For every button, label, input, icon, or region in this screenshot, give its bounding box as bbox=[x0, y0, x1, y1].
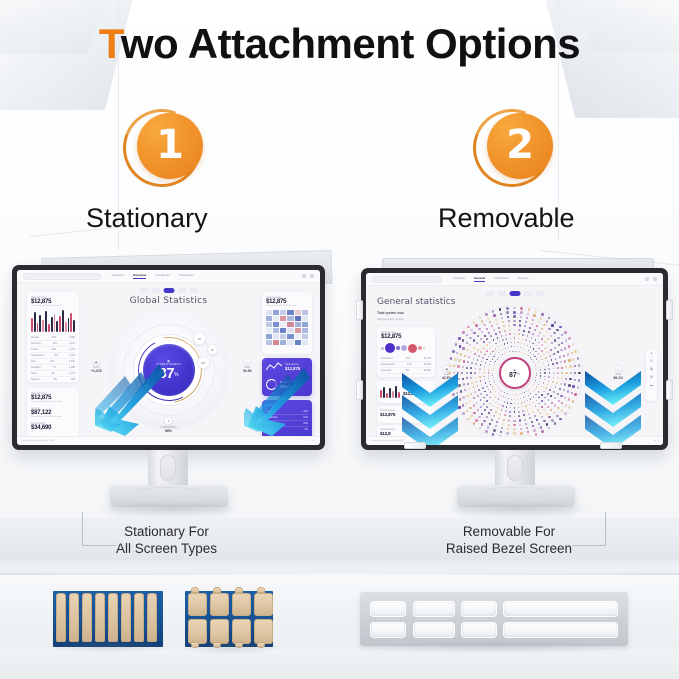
burst-dot bbox=[494, 382, 495, 383]
burst-dot bbox=[514, 333, 516, 335]
burst-dot bbox=[540, 375, 541, 376]
segment-1y[interactable] bbox=[535, 291, 544, 296]
burst-dot bbox=[457, 365, 459, 367]
burst-dot bbox=[513, 420, 515, 422]
burst-dot bbox=[499, 308, 502, 311]
burst-dot bbox=[574, 350, 577, 353]
burst-dot bbox=[509, 329, 511, 331]
burst-dot bbox=[574, 379, 577, 382]
burst-dot bbox=[501, 427, 503, 429]
burst-dot bbox=[550, 349, 552, 351]
burst-dot bbox=[493, 389, 494, 390]
row-pct: 9% bbox=[406, 369, 409, 372]
card-right-total-earning: Total earning $12,875 Compared to $10,87… bbox=[262, 292, 312, 354]
sheet-slot bbox=[413, 622, 455, 638]
clip-tab-right-bottom[interactable] bbox=[666, 380, 673, 400]
burst-dot bbox=[565, 404, 568, 407]
toolbar-icon-up[interactable]: ▲ bbox=[650, 351, 653, 355]
footer-right: v4.2 bbox=[311, 440, 315, 442]
adhesive-tab bbox=[232, 593, 251, 616]
clip-tab-bottom-left[interactable] bbox=[404, 442, 426, 449]
burst-dot bbox=[476, 342, 478, 344]
burst-dot bbox=[560, 383, 562, 385]
adhesive-tab bbox=[69, 593, 79, 642]
dashboard-title: General statistics bbox=[377, 297, 455, 307]
burst-dot bbox=[525, 423, 527, 425]
burst-dot bbox=[541, 400, 543, 402]
dashboard-topbar: Analytics General Dashboard Reports bbox=[366, 273, 663, 286]
burst-dot bbox=[560, 395, 562, 397]
burst-dot bbox=[492, 373, 493, 374]
avatar[interactable] bbox=[310, 274, 314, 278]
adhesive-tab bbox=[254, 593, 273, 616]
burst-dot bbox=[526, 317, 528, 319]
bracket-left bbox=[82, 512, 116, 546]
burst-dot bbox=[524, 353, 525, 354]
adhesive-strip-grid-shadow bbox=[178, 642, 282, 655]
gauge-unit: % bbox=[174, 372, 178, 378]
burst-dot bbox=[473, 347, 475, 349]
burst-dot bbox=[511, 399, 512, 400]
burst-dot bbox=[475, 377, 477, 379]
sheet-slot bbox=[503, 622, 618, 638]
burst-dot bbox=[522, 406, 524, 408]
nav-overview[interactable]: Overview bbox=[133, 273, 146, 279]
card-subtext: Compared to $10,875 last week bbox=[266, 305, 308, 307]
burst-dot bbox=[548, 345, 550, 347]
burst-dot bbox=[553, 377, 555, 379]
row-value: $3,640 bbox=[424, 363, 431, 366]
burst-dot bbox=[487, 426, 490, 429]
dashboard-topnav: Analytics General Dashboard Reports bbox=[453, 276, 528, 282]
row-value: $4,210 bbox=[424, 357, 431, 360]
mini-bar-chart bbox=[380, 386, 400, 398]
burst-dot bbox=[569, 365, 571, 367]
burst-dot bbox=[480, 393, 482, 395]
burst-dot bbox=[469, 337, 471, 339]
burst-dot bbox=[524, 343, 525, 344]
burst-dot bbox=[535, 339, 537, 341]
burst-dot bbox=[460, 353, 462, 355]
monitor-left-screen: Analytics Overview Dashboard Workspace bbox=[17, 270, 320, 445]
burst-dot bbox=[571, 352, 574, 355]
burst-dot bbox=[568, 398, 571, 401]
topbar-actions bbox=[645, 277, 657, 281]
burst-dot bbox=[529, 327, 531, 329]
sheet-slot bbox=[503, 601, 618, 617]
burst-dot bbox=[538, 423, 540, 425]
burst-dot bbox=[506, 307, 509, 310]
burst-dot bbox=[480, 364, 482, 366]
burst-dot bbox=[536, 419, 538, 421]
burst-dot bbox=[505, 334, 507, 336]
monitor-left-shadow bbox=[96, 500, 246, 518]
clip-tab-right-top[interactable] bbox=[666, 300, 673, 320]
footer-right: v4.2 bbox=[654, 440, 658, 442]
clip-tab-left-top[interactable] bbox=[356, 300, 363, 320]
row-value: 2,410 bbox=[69, 342, 75, 345]
row-name: Norway bbox=[31, 336, 39, 339]
burst-dot bbox=[488, 389, 489, 390]
burst-dot bbox=[518, 415, 520, 417]
burst-dot bbox=[468, 388, 470, 390]
burst-dot bbox=[523, 330, 525, 332]
install-arrow-left bbox=[398, 373, 462, 445]
burst-dot bbox=[564, 396, 566, 398]
chip-text: ⚙ bbox=[211, 348, 214, 352]
burst-dot bbox=[536, 400, 538, 402]
burst-dot bbox=[533, 429, 536, 432]
burst-dot bbox=[462, 339, 465, 342]
row-pct: 6% bbox=[51, 372, 54, 375]
segment-1w[interactable] bbox=[151, 288, 160, 293]
burst-dot bbox=[490, 384, 491, 385]
burst-dot bbox=[493, 429, 496, 432]
burst-dot bbox=[502, 405, 504, 407]
burst-dot bbox=[541, 430, 544, 433]
bracket-right bbox=[572, 512, 606, 546]
burst-dot bbox=[492, 400, 494, 402]
burst-dot bbox=[518, 411, 520, 413]
nav-dashboard[interactable]: Dashboard bbox=[494, 276, 509, 282]
burst-dot bbox=[470, 367, 472, 369]
burst-dot bbox=[466, 410, 469, 413]
burst-dot bbox=[489, 423, 491, 425]
right-toolbar: ▲ ⚙ ▦ ▤ ▬ bbox=[646, 349, 657, 401]
burst-dot bbox=[473, 321, 476, 324]
row-name: Italy bbox=[31, 360, 35, 363]
burst-dot bbox=[551, 324, 554, 327]
option-label-1: Stationary bbox=[86, 203, 208, 234]
segment-1y[interactable] bbox=[189, 288, 198, 293]
avatar[interactable] bbox=[653, 277, 657, 281]
burst-dot bbox=[497, 337, 499, 339]
chip-badge-1[interactable]: 87 bbox=[193, 332, 206, 345]
burst-dot bbox=[492, 351, 493, 352]
row-pct: 9% bbox=[54, 354, 57, 357]
target-icon: ☀ bbox=[164, 416, 173, 425]
burst-dot bbox=[508, 347, 509, 348]
burst-dot bbox=[522, 334, 524, 336]
segment-1m[interactable] bbox=[509, 291, 520, 296]
row-name: Production bbox=[381, 357, 392, 360]
chip-badge-3[interactable]: 54° bbox=[197, 356, 210, 369]
burst-dot bbox=[541, 328, 543, 330]
burst-dot bbox=[561, 372, 563, 374]
burst-dot bbox=[571, 392, 574, 395]
burst-dot bbox=[485, 362, 486, 363]
burst-dot bbox=[476, 402, 478, 404]
burst-dot bbox=[546, 320, 549, 323]
segment-3m[interactable] bbox=[177, 288, 186, 293]
burst-dot bbox=[490, 391, 491, 392]
burst-dot bbox=[574, 393, 577, 396]
burst-dot bbox=[565, 339, 568, 342]
burst-dot bbox=[554, 404, 556, 406]
burst-dot bbox=[475, 363, 477, 365]
product-infographic: Two Attachment Options 1 Stationary 2 Re… bbox=[0, 0, 679, 679]
burst-dot bbox=[549, 355, 551, 357]
burst-dot bbox=[561, 342, 563, 344]
row-name: Scotland bbox=[31, 366, 40, 369]
card-value: $12,875 bbox=[381, 334, 431, 340]
burst-dot bbox=[535, 405, 537, 407]
burst-dot bbox=[544, 366, 545, 367]
burst-dot bbox=[450, 357, 453, 360]
burst-dot bbox=[483, 372, 484, 373]
adhesive-strip-tall bbox=[53, 591, 163, 647]
burst-dot bbox=[578, 364, 581, 367]
toolbar-icon-rows[interactable]: ▤ bbox=[650, 375, 653, 379]
row-name: Development bbox=[381, 363, 395, 366]
burst-dot bbox=[507, 428, 509, 430]
burst-dot bbox=[469, 400, 471, 402]
burst-dot bbox=[484, 335, 486, 337]
burst-dot bbox=[466, 395, 468, 397]
burst-dot bbox=[498, 357, 499, 358]
burst-dot bbox=[504, 353, 505, 354]
badge-circle-2: 2 bbox=[487, 113, 553, 179]
burst-dot bbox=[529, 404, 531, 406]
burst-dot bbox=[483, 420, 485, 422]
row-pct: 5% bbox=[54, 378, 57, 381]
burst-dot bbox=[518, 333, 520, 335]
burst-dot bbox=[490, 353, 491, 354]
burst-dot bbox=[540, 317, 543, 320]
burst-dot bbox=[514, 337, 516, 339]
toolbar-icon-bar[interactable]: ▬ bbox=[650, 383, 654, 387]
bell-icon[interactable] bbox=[302, 274, 306, 278]
segmented-control bbox=[485, 291, 544, 296]
segment-1d[interactable] bbox=[139, 288, 148, 293]
burst-dot bbox=[536, 358, 537, 359]
burst-dot bbox=[480, 380, 482, 382]
bell-icon[interactable] bbox=[645, 277, 649, 281]
burst-dot bbox=[480, 345, 482, 347]
burst-dot bbox=[470, 393, 472, 395]
burst-dot bbox=[473, 422, 476, 425]
burst-dot bbox=[518, 329, 520, 331]
burst-dot bbox=[525, 349, 526, 350]
burst-dot bbox=[488, 332, 490, 334]
nav-dashboard[interactable]: Dashboard bbox=[155, 273, 170, 279]
burst-dot bbox=[564, 360, 566, 362]
burst-dot bbox=[520, 307, 523, 310]
burst-dot bbox=[478, 389, 480, 391]
burst-dot bbox=[483, 403, 485, 405]
burst-dot bbox=[495, 333, 497, 335]
burst-dot bbox=[551, 385, 553, 387]
burst-dot bbox=[528, 395, 529, 396]
search-input[interactable] bbox=[372, 276, 442, 283]
burst-dot bbox=[570, 372, 572, 374]
burst-dot bbox=[501, 335, 503, 337]
row-value: 968 bbox=[71, 378, 75, 381]
row-pct: 11% bbox=[53, 342, 58, 345]
adhesive-tab bbox=[95, 593, 105, 642]
burst-dot bbox=[524, 419, 526, 421]
burst-dot bbox=[533, 348, 534, 349]
burst-dot bbox=[538, 391, 539, 392]
income-sub: Compared to $10,875 last week bbox=[31, 416, 75, 418]
burst-dot bbox=[493, 339, 495, 341]
burst-dot bbox=[530, 398, 531, 399]
burst-dot bbox=[543, 382, 544, 383]
burst-dot bbox=[521, 352, 522, 353]
burst-dot bbox=[504, 343, 505, 344]
nav-analytics[interactable]: Analytics bbox=[112, 273, 124, 279]
sheet-slot bbox=[461, 622, 497, 638]
burst-dot bbox=[527, 409, 529, 411]
burst-dot bbox=[506, 406, 508, 408]
burst-dot bbox=[478, 328, 480, 330]
caption-right: Removable For Raised Bezel Screen bbox=[446, 524, 572, 558]
burst-dot bbox=[548, 364, 550, 366]
card-subtext: Compared to $10,875 last week bbox=[31, 305, 75, 307]
burst-dot bbox=[493, 380, 494, 381]
burst-dot bbox=[458, 337, 461, 340]
burst-dot bbox=[535, 310, 538, 313]
monitor-right-shadow bbox=[443, 500, 593, 518]
burst-reading: 87% bbox=[509, 372, 520, 379]
badge-circle-1: 1 bbox=[137, 113, 203, 179]
burst-dot bbox=[494, 363, 495, 364]
burst-dot bbox=[535, 368, 536, 369]
row-pct: 10% bbox=[51, 348, 56, 351]
burst-dot bbox=[492, 310, 495, 313]
topbar-actions bbox=[302, 274, 314, 278]
burst-dot bbox=[540, 372, 541, 373]
burst-dot bbox=[528, 308, 531, 311]
burst-dot bbox=[537, 409, 539, 411]
burst-dot bbox=[551, 359, 553, 361]
badge-number-1: 1 bbox=[156, 125, 184, 165]
burst-dot bbox=[526, 427, 528, 429]
burst-dot bbox=[470, 377, 472, 379]
burst-dot bbox=[522, 410, 524, 412]
adhesive-strip-grid bbox=[185, 591, 273, 647]
burst-dot bbox=[495, 319, 497, 321]
segment-3m[interactable] bbox=[523, 291, 532, 296]
burst-dot bbox=[455, 343, 458, 346]
burst-dot bbox=[551, 419, 554, 422]
burst-dot bbox=[495, 396, 496, 397]
row-value: 2,980 bbox=[69, 336, 75, 339]
burst-dot bbox=[462, 412, 465, 415]
nav-analytics[interactable]: Analytics bbox=[453, 276, 465, 282]
burst-dot bbox=[533, 396, 534, 397]
burst-dot bbox=[485, 313, 488, 316]
burst-dot bbox=[514, 395, 515, 396]
burst-dot bbox=[568, 359, 570, 361]
burst-dot bbox=[514, 351, 515, 352]
dashboard-subtitle-2: All figures are normal bbox=[377, 317, 403, 321]
segment-1d[interactable] bbox=[485, 291, 494, 296]
card-subtext: Compared to $10,875 last week bbox=[31, 401, 75, 403]
burst-dot bbox=[509, 394, 510, 395]
burst-dot bbox=[532, 319, 534, 321]
burst-dot bbox=[552, 381, 554, 383]
segment-1w[interactable] bbox=[497, 291, 506, 296]
chip-text: 54° bbox=[201, 361, 206, 365]
caption-right-line1: Removable For bbox=[446, 524, 572, 541]
burst-dot bbox=[543, 362, 544, 363]
search-input[interactable] bbox=[23, 273, 101, 280]
burst-dot bbox=[466, 367, 468, 369]
burst-dot bbox=[499, 331, 501, 333]
burst-dot bbox=[489, 348, 491, 350]
burst-dot bbox=[509, 351, 510, 352]
burst-dot bbox=[530, 352, 531, 353]
nav-general[interactable]: General bbox=[474, 276, 485, 282]
burst-dot bbox=[540, 426, 543, 429]
dashboard-topbar: Analytics Overview Dashboard Workspace bbox=[17, 270, 320, 283]
sheet-slot bbox=[413, 601, 455, 617]
burst-dot bbox=[513, 315, 515, 317]
adhesive-tab bbox=[147, 593, 157, 642]
gear-icon[interactable]: ⚙ bbox=[650, 359, 653, 363]
burst-dot bbox=[522, 338, 524, 340]
burst-dot bbox=[493, 405, 495, 407]
page-title-rest: wo Attachment Options bbox=[121, 20, 580, 67]
toolbar-icon-grid[interactable]: ▦ bbox=[650, 367, 653, 371]
burst-dot bbox=[572, 400, 575, 403]
burst-dot bbox=[486, 400, 488, 402]
burst-dot bbox=[452, 350, 455, 353]
option-badge-2: 2 bbox=[465, 105, 585, 195]
burst-dot bbox=[507, 342, 508, 343]
clip-tab-bottom-right[interactable] bbox=[600, 442, 622, 449]
burst-dot bbox=[532, 333, 534, 335]
burst-dot bbox=[527, 345, 528, 346]
sheet-slot bbox=[370, 622, 406, 638]
burst-dot bbox=[540, 369, 541, 370]
burst-dot bbox=[500, 395, 501, 396]
burst-dot bbox=[577, 357, 580, 360]
row-value: 1,640 bbox=[69, 360, 75, 363]
burst-dot bbox=[463, 360, 465, 362]
burst-dot bbox=[527, 313, 530, 316]
dashboard-subtitle-1: Total system load bbox=[377, 311, 404, 315]
burst-dot bbox=[479, 317, 482, 320]
row-value: 1,120 bbox=[69, 372, 75, 375]
gear-icon[interactable]: ⚙ bbox=[207, 344, 218, 355]
nav-workspace[interactable]: Workspace bbox=[179, 273, 194, 279]
burst-dot bbox=[541, 416, 543, 418]
chip-text: 87 bbox=[198, 337, 201, 341]
burst-dot bbox=[502, 354, 503, 355]
burst-dot bbox=[454, 358, 457, 361]
adhesive-tab bbox=[82, 593, 92, 642]
burst-dot bbox=[565, 378, 567, 380]
burst-dot bbox=[489, 364, 490, 365]
burst-dot bbox=[547, 351, 549, 353]
adhesive-tab bbox=[254, 619, 273, 644]
burst-dot bbox=[534, 329, 536, 331]
burst-dot bbox=[545, 387, 547, 389]
burst-dot bbox=[514, 399, 515, 400]
row-pct: 12% bbox=[52, 336, 57, 339]
nav-reports[interactable]: Reports bbox=[518, 276, 529, 282]
load-icon: ◉ bbox=[443, 365, 450, 372]
burst-dot bbox=[544, 341, 546, 343]
burst-dot bbox=[490, 409, 492, 411]
silicone-mount-sheet bbox=[360, 592, 628, 646]
burst-dot bbox=[549, 372, 551, 374]
burst-dot bbox=[514, 407, 516, 409]
segment-1m[interactable] bbox=[163, 288, 174, 293]
clip-tab-left-bottom[interactable] bbox=[356, 380, 363, 400]
